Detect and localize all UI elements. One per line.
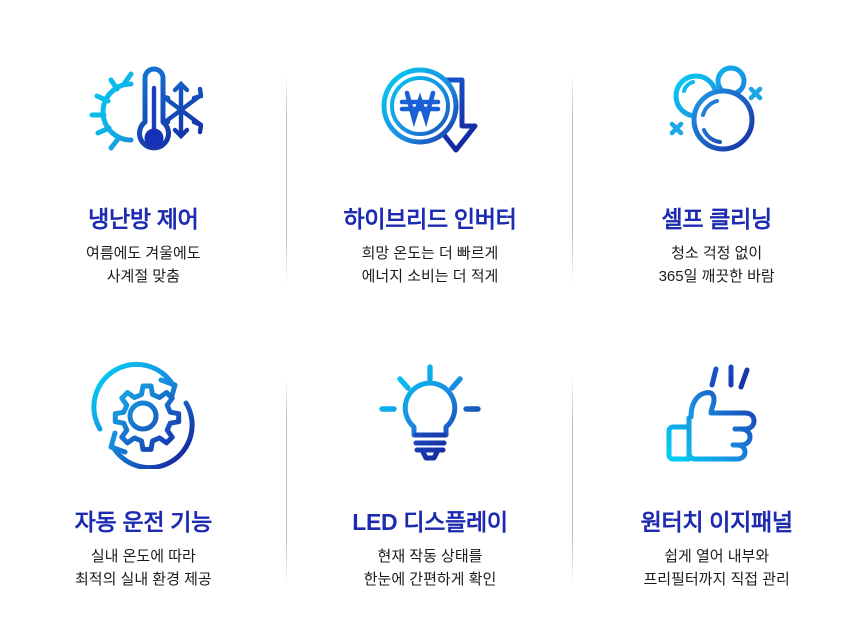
feature-title: 하이브리드 인버터 [344,206,517,232]
feature-card-climate-control: 냉난방 제어 여름에도 겨울에도 사계절 맞춤 [0,18,287,321]
feature-card-hybrid-inverter: 하이브리드 인버터 희망 온도는 더 빠르게 에너지 소비는 더 적게 [287,18,574,321]
lightbulb-icon [366,359,494,471]
feature-grid: 냉난방 제어 여름에도 겨울에도 사계절 맞춤 [0,0,860,630]
feature-description-line: 최적의 실내 환경 제공 [75,569,212,592]
feature-description: 실내 온도에 따라 최적의 실내 환경 제공 [75,546,212,592]
feature-description: 현재 작동 상태를 한눈에 간편하게 확인 [364,546,497,592]
feature-title: 냉난방 제어 [88,206,198,232]
feature-description-line: 현재 작동 상태를 [364,546,497,569]
feature-card-auto-operation: 자동 운전 기능 실내 온도에 따라 최적의 실내 환경 제공 [0,321,287,624]
feature-description: 쉽게 열어 내부와 프리필터까지 직접 관리 [643,546,789,592]
feature-description: 희망 온도는 더 빠르게 에너지 소비는 더 적게 [362,243,499,289]
bubbles-sparkle-icon [653,56,781,168]
feature-description-line: 365일 깨끗한 바람 [659,266,775,289]
pointing-hand-icon [653,359,781,471]
feature-description-line: 실내 온도에 따라 [75,546,212,569]
feature-title: 셀프 클리닝 [661,206,771,232]
feature-description-line: 여름에도 겨울에도 [86,243,201,266]
feature-title: LED 디스플레이 [352,509,508,535]
gear-refresh-icon [79,359,207,471]
feature-description-line: 에너지 소비는 더 적게 [362,266,499,289]
feature-title: 원터치 이지패널 [641,509,793,535]
feature-description-line: 사계절 맞춤 [86,266,201,289]
feature-description-line: 프리필터까지 직접 관리 [643,569,789,592]
feature-description: 청소 걱정 없이 365일 깨끗한 바람 [659,243,775,289]
feature-description: 여름에도 겨울에도 사계절 맞춤 [86,243,201,289]
feature-description-line: 쉽게 열어 내부와 [643,546,789,569]
thermometer-sun-snowflake-icon [79,56,207,168]
feature-description-line: 한눈에 간편하게 확인 [364,569,497,592]
feature-description-line: 청소 걱정 없이 [659,243,775,266]
won-coin-down-arrow-icon [366,56,494,168]
feature-card-self-cleaning: 셀프 클리닝 청소 걱정 없이 365일 깨끗한 바람 [573,18,860,321]
feature-card-one-touch-easy-panel: 원터치 이지패널 쉽게 열어 내부와 프리필터까지 직접 관리 [573,321,860,624]
feature-description-line: 희망 온도는 더 빠르게 [362,243,499,266]
feature-card-led-display: LED 디스플레이 현재 작동 상태를 한눈에 간편하게 확인 [287,321,574,624]
feature-title: 자동 운전 기능 [75,509,212,535]
